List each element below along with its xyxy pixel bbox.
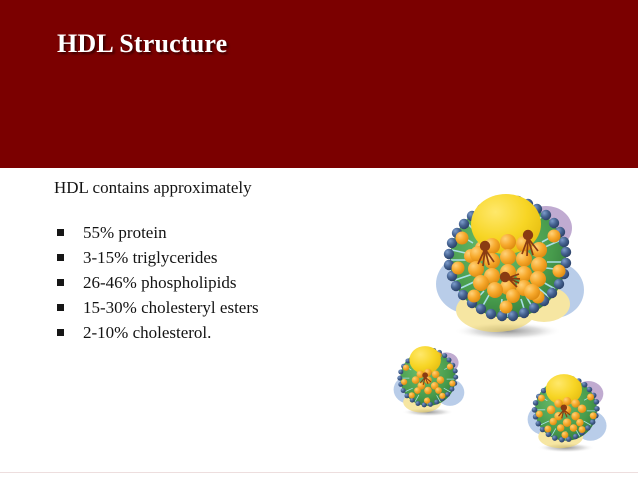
list-item: 3-15% triglycerides bbox=[54, 245, 394, 270]
composition-bullet-list: 55% protein 3-15% triglycerides 26-46% p… bbox=[54, 220, 394, 345]
footer-divider bbox=[0, 472, 638, 473]
list-item-label: 26-46% phospholipids bbox=[83, 273, 236, 292]
apolipoprotein-blob bbox=[409, 346, 441, 374]
large-hdl-particle bbox=[418, 186, 598, 346]
list-item: 55% protein bbox=[54, 220, 394, 245]
intro-text: HDL contains approximately bbox=[54, 178, 394, 198]
square-bullet-icon bbox=[57, 304, 64, 311]
square-bullet-icon bbox=[57, 254, 64, 261]
square-bullet-icon bbox=[57, 329, 64, 336]
slide-header-band bbox=[0, 0, 638, 168]
list-item: 2-10% cholesterol. bbox=[54, 320, 394, 345]
square-bullet-icon bbox=[57, 279, 64, 286]
list-item-label: 15-30% cholesteryl esters bbox=[83, 298, 259, 317]
list-item-label: 2-10% cholesterol. bbox=[83, 323, 211, 342]
list-item: 26-46% phospholipids bbox=[54, 270, 394, 295]
list-item: 15-30% cholesteryl esters bbox=[54, 295, 394, 320]
page-title: HDL Structure bbox=[57, 29, 227, 59]
small-hdl-particle-right bbox=[518, 368, 614, 458]
list-item-label: 55% protein bbox=[83, 223, 167, 242]
small-hdl-particle-left bbox=[385, 341, 471, 421]
slide-canvas: HDL Structure HDL contains approximately… bbox=[0, 0, 638, 479]
slide-body: HDL contains approximately 55% protein 3… bbox=[54, 178, 394, 345]
list-item-label: 3-15% triglycerides bbox=[83, 248, 218, 267]
square-bullet-icon bbox=[57, 229, 64, 236]
